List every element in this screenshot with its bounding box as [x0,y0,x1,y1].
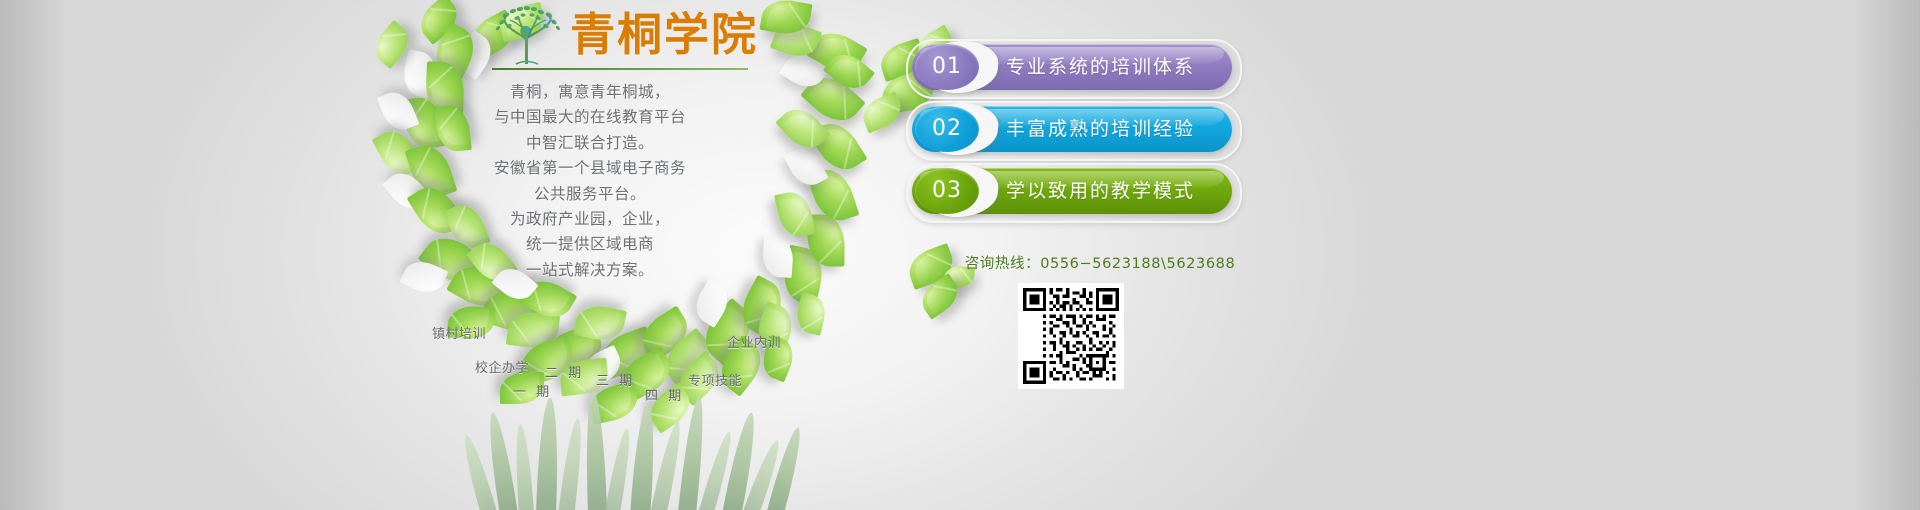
brand-logo[interactable]: 青桐学院 [492,4,748,72]
feature-badge-02[interactable]: 02 丰富成熟的培训经验 [912,106,1232,152]
intro-line: 一站式解决方案。 [430,258,750,283]
intro-line: 安徽省第一个县域电子商务 [430,156,750,181]
badge-number-circle: 01 [915,44,979,90]
badge-label: 学以致用的教学模式 [1006,168,1195,214]
phase-label: 三 期 [596,370,635,389]
qr-code-image [1023,288,1119,384]
phase-label: 四 期 [645,385,684,404]
qr-code[interactable] [1018,283,1124,389]
logo-underline [492,68,748,70]
badge-label: 专业系统的培训体系 [1006,44,1195,90]
badge-number: 03 [932,178,962,203]
bottom-label: 校企办学 [475,357,529,376]
intro-paragraph: 青桐，寓意青年桐城， 与中国最大的在线教育平台 中智汇联合打造。 安徽省第一个县… [430,80,750,283]
badge-label: 丰富成熟的培训经验 [1006,106,1195,152]
grass-decoration [430,366,850,510]
intro-line: 中智汇联合打造。 [430,131,750,156]
intro-line: 为政府产业园，企业， [430,207,750,232]
bottom-label: 专项技能 [688,370,742,389]
badge-number: 02 [932,116,962,141]
feature-badge-list: 01 专业系统的培训体系 02 丰富成熟的培训经验 03 学以致用的教学模式 [912,44,1242,234]
badge-number-circle: 03 [915,168,979,214]
hotline-text: 咨询热线：0556−5623188\5623688 [950,252,1250,273]
bottom-label: 企业内训 [727,332,781,351]
badge-number: 01 [932,54,962,79]
feature-badge-01[interactable]: 01 专业系统的培训体系 [912,44,1232,90]
tree-logo-icon [492,4,564,66]
feature-badge-03[interactable]: 03 学以致用的教学模式 [912,168,1232,214]
bottom-label: 镇村培训 [432,323,486,342]
badge-number-circle: 02 [915,106,979,152]
intro-line: 统一提供区域电商 [430,232,750,257]
phase-label: 一 期 [513,381,552,400]
phase-label: 二 期 [545,362,584,381]
brand-name: 青桐学院 [570,11,758,59]
intro-line: 公共服务平台。 [430,182,750,207]
intro-line: 青桐，寓意青年桐城， [430,80,750,105]
banner-stage: 青桐学院 青桐，寓意青年桐城， 与中国最大的在线教育平台 中智汇联合打造。 安徽… [0,0,1920,510]
intro-line: 与中国最大的在线教育平台 [430,105,750,130]
